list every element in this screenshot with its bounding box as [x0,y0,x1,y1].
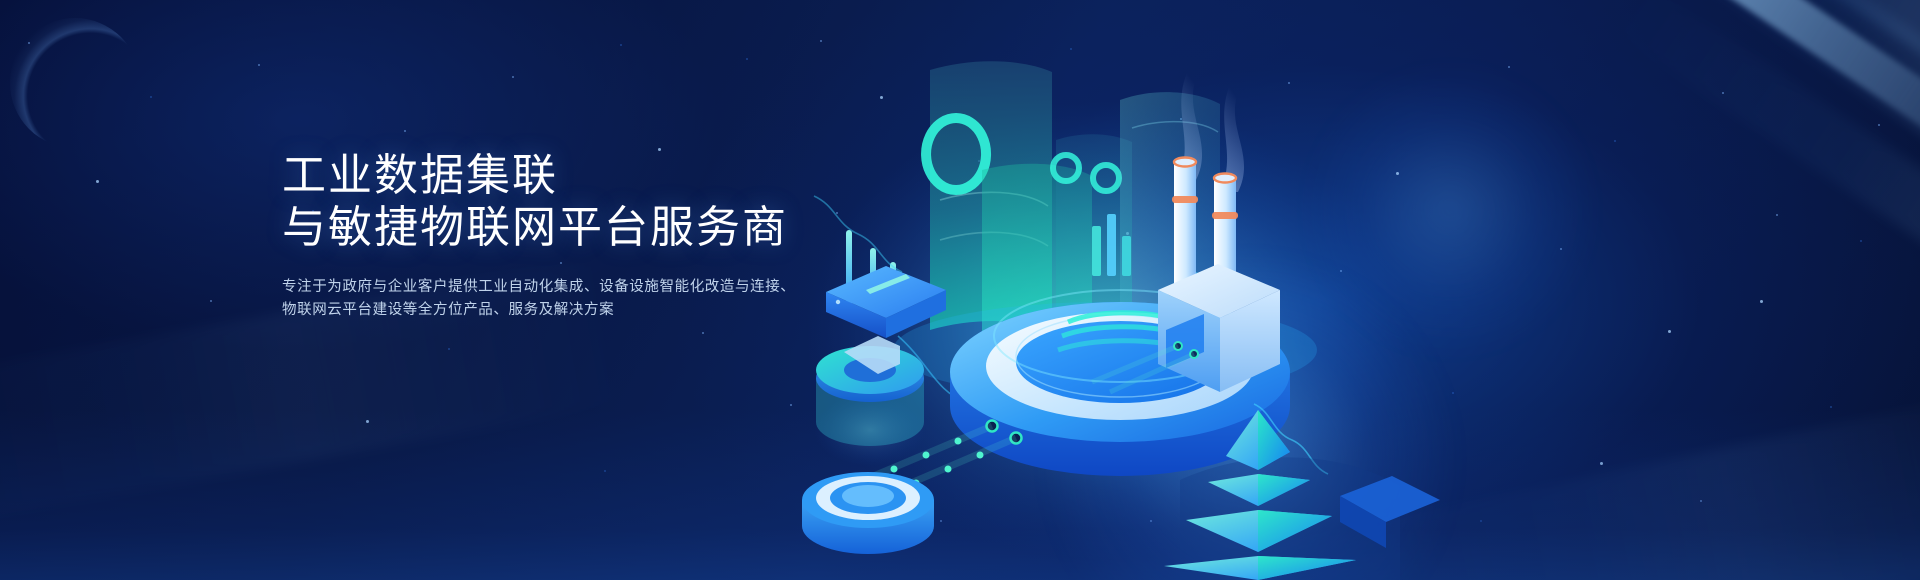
stack-band-1 [1172,196,1198,203]
moon-arc-decoration [10,18,140,148]
ring-cylinder[interactable] [814,336,926,466]
stack-band-2 [1212,212,1238,219]
isometric-illustration [780,0,1920,580]
disc-base [802,472,934,554]
hero-banner: 工业数据集联 与敏捷物联网平台服务商 专注于为政府与企业客户提供工业自动化集成、… [0,0,1920,580]
router-led [836,300,840,304]
stack-1 [1174,162,1196,286]
